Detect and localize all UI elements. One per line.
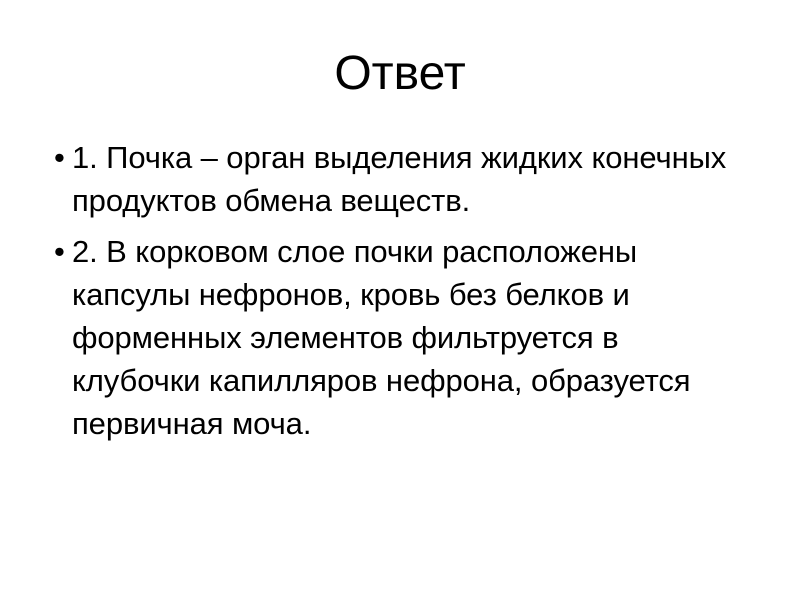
list-item-text: 2. В корковом слое почки расположены кап…: [72, 230, 750, 445]
list-item: • 1. Почка – орган выделения жидких коне…: [50, 136, 750, 222]
slide: Ответ • 1. Почка – орган выделения жидки…: [0, 0, 800, 600]
bullet-point-icon: •: [54, 136, 68, 179]
list-item: • 2. В корковом слое почки расположены к…: [50, 230, 750, 445]
bullet-point-icon: •: [54, 230, 68, 273]
bullet-list: • 1. Почка – орган выделения жидких коне…: [50, 136, 750, 445]
list-item-text: 1. Почка – орган выделения жидких конечн…: [72, 136, 750, 222]
page-title: Ответ: [0, 46, 800, 102]
slide-body: • 1. Почка – орган выделения жидких коне…: [50, 136, 750, 445]
